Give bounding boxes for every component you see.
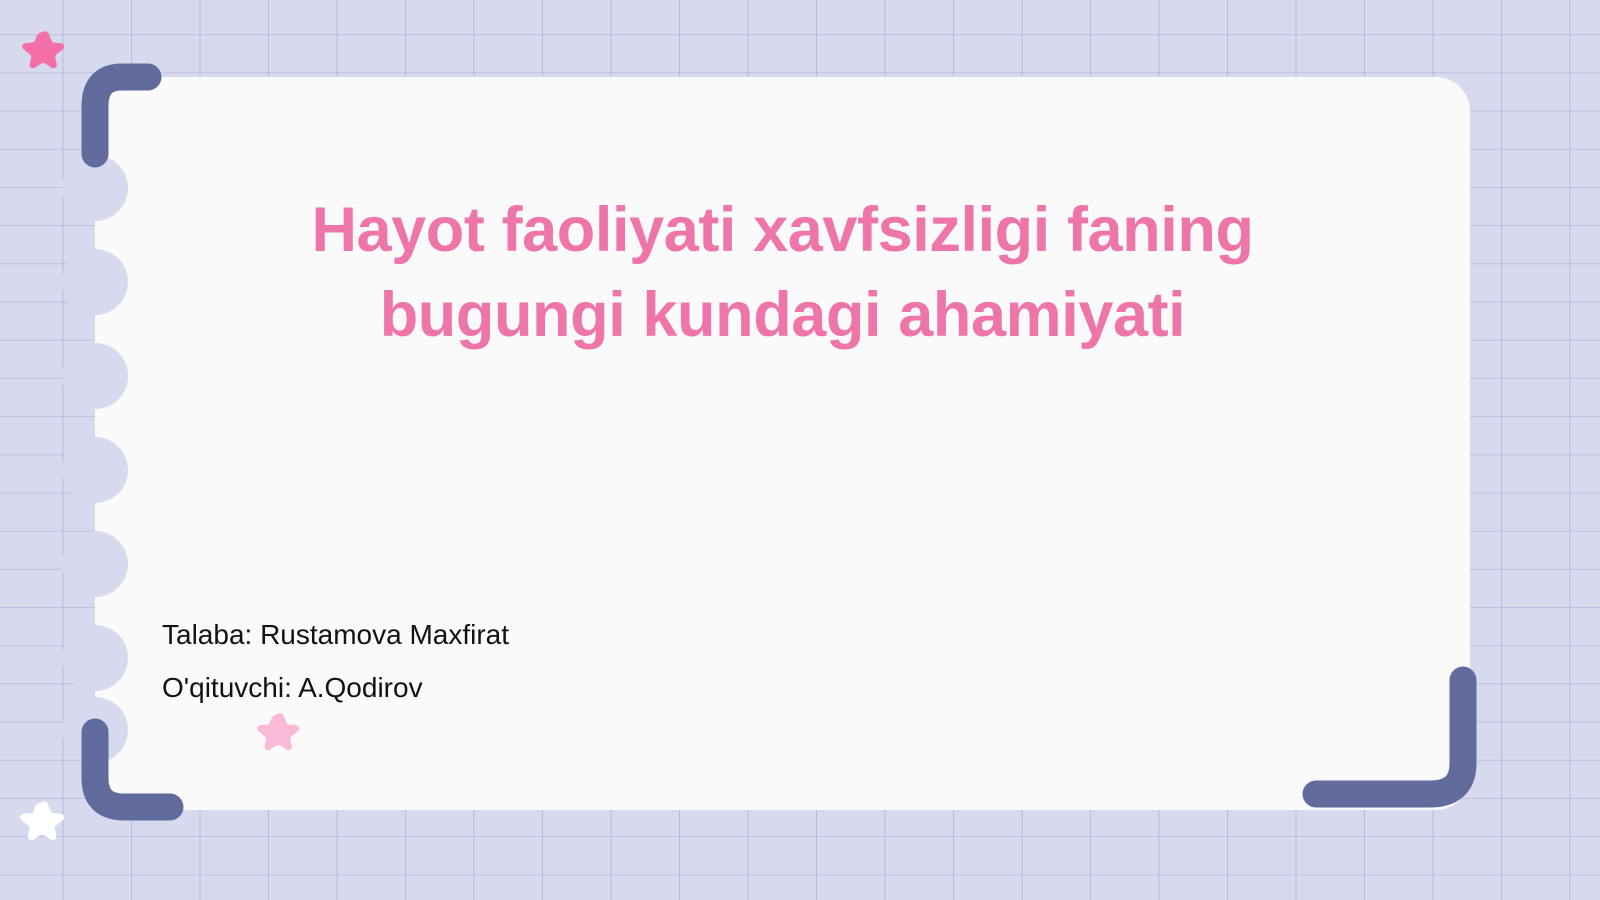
star-icon-bottom-left	[20, 798, 66, 844]
star-icon-top-left	[22, 28, 66, 72]
slide-title: Hayot faoliyati xavfsizligi faning bugun…	[260, 188, 1305, 358]
slide-body: Talaba: Rustamova Maxfirat O'qituvchi: A…	[162, 608, 509, 714]
body-line-student: Talaba: Rustamova Maxfirat	[162, 608, 509, 661]
slide-canvas: Hayot faoliyati xavfsizligi faning bugun…	[0, 0, 1600, 900]
body-line-teacher: O'qituvchi: A.Qodirov	[162, 661, 509, 714]
